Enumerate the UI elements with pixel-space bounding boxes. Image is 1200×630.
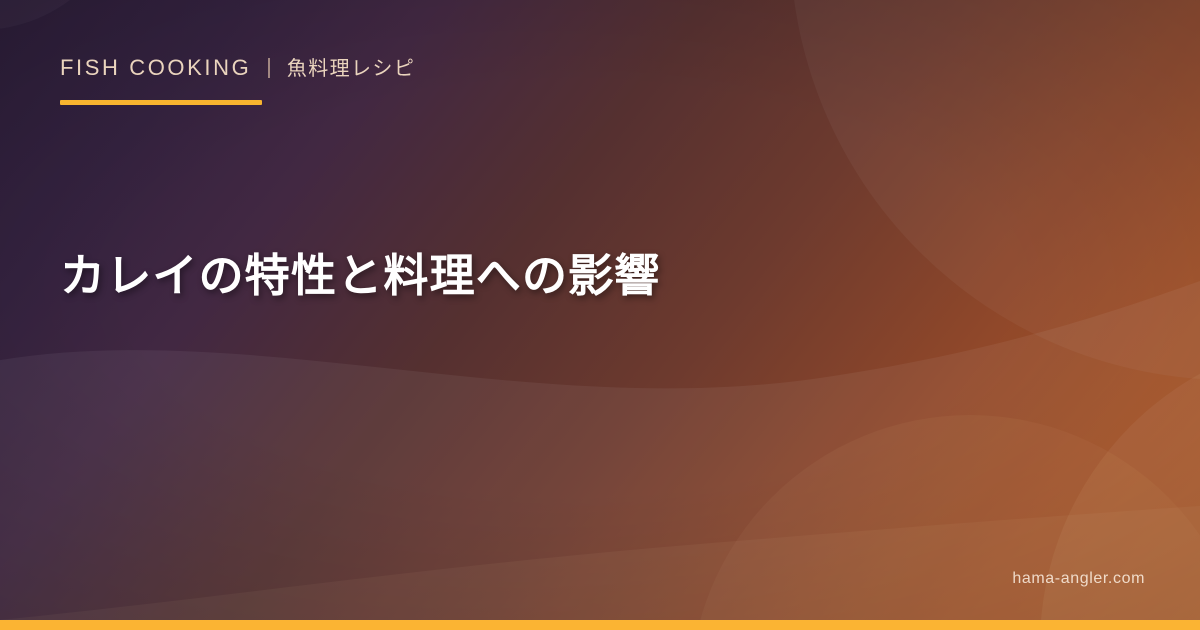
banner-content: FISH COOKING 魚料理レシピ カレイの特性と料理への影響 hama-a… xyxy=(0,0,1200,630)
title-block: カレイの特性と料理への影響 xyxy=(60,245,1100,307)
site-kicker: FISH COOKING 魚料理レシピ xyxy=(60,55,415,79)
bottom-accent-bar xyxy=(0,620,1200,630)
page-title: カレイの特性と料理への影響 xyxy=(60,245,1100,307)
ogp-banner: FISH COOKING 魚料理レシピ カレイの特性と料理への影響 hama-a… xyxy=(0,0,1200,630)
kicker-separator-divider xyxy=(268,58,270,78)
accent-underline-bar xyxy=(60,100,262,105)
kicker-japanese-label: 魚料理レシピ xyxy=(287,59,415,79)
banner-header: FISH COOKING 魚料理レシピ xyxy=(60,55,415,105)
kicker-english-label: FISH COOKING xyxy=(60,57,251,79)
site-url-label: hama-angler.com xyxy=(1012,570,1145,588)
